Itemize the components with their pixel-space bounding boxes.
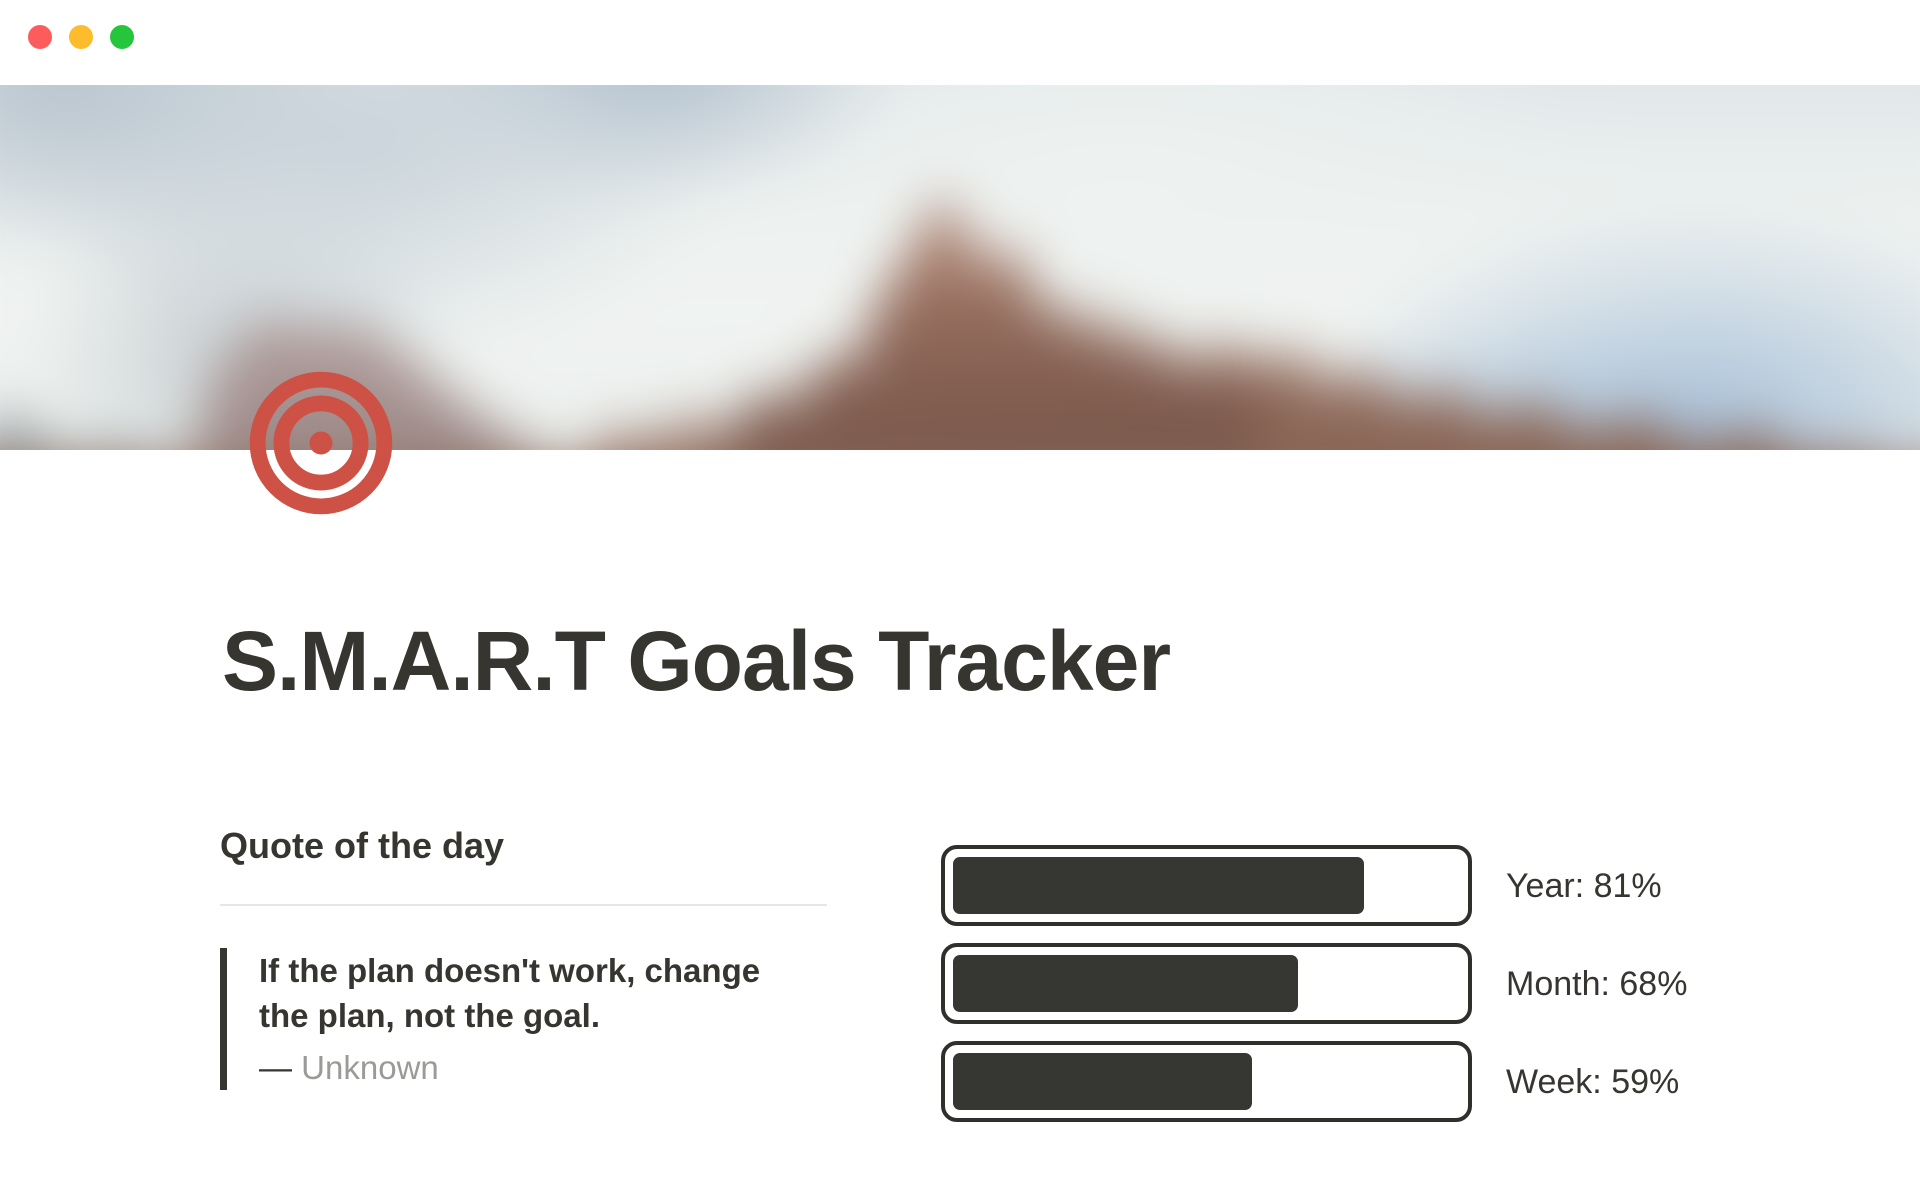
progress-label-month: Month: 68% <box>1506 967 1687 1001</box>
quote-author-name: Unknown <box>301 1049 439 1086</box>
close-window-button[interactable] <box>28 25 52 49</box>
progress-label-week: Week: 59% <box>1506 1065 1679 1099</box>
minimize-window-button[interactable] <box>69 25 93 49</box>
attribution-dash: — <box>259 1049 292 1086</box>
quote-section-heading: Quote of the day <box>220 826 840 866</box>
page-title: S.M.A.R.T Goals Tracker <box>222 619 1170 703</box>
quote-text: If the plan doesn't work, change the pla… <box>259 948 789 1038</box>
progress-fill-month <box>953 955 1298 1012</box>
quote-blockquote: If the plan doesn't work, change the pla… <box>220 948 840 1090</box>
window-titlebar <box>0 0 1920 85</box>
bullseye-target-icon[interactable] <box>249 371 393 515</box>
quote-attribution: — Unknown <box>259 1048 840 1088</box>
progress-row-month: Month: 68% <box>941 943 1687 1024</box>
progress-track-year[interactable] <box>941 845 1472 926</box>
progress-label-year: Year: 81% <box>1506 869 1662 903</box>
traffic-light-controls <box>28 25 134 49</box>
progress-row-year: Year: 81% <box>941 845 1687 926</box>
quote-of-the-day-section: Quote of the day If the plan doesn't wor… <box>220 826 840 1090</box>
progress-fill-year <box>953 857 1364 914</box>
maximize-window-button[interactable] <box>110 25 134 49</box>
progress-track-week[interactable] <box>941 1041 1472 1122</box>
section-divider <box>220 904 827 906</box>
progress-row-week: Week: 59% <box>941 1041 1687 1122</box>
app-window: S.M.A.R.T Goals Tracker Quote of the day… <box>0 0 1920 1200</box>
progress-track-month[interactable] <box>941 943 1472 1024</box>
progress-bars-section: Year: 81% Month: 68% Week: 59% <box>941 845 1687 1139</box>
progress-fill-week <box>953 1053 1252 1110</box>
